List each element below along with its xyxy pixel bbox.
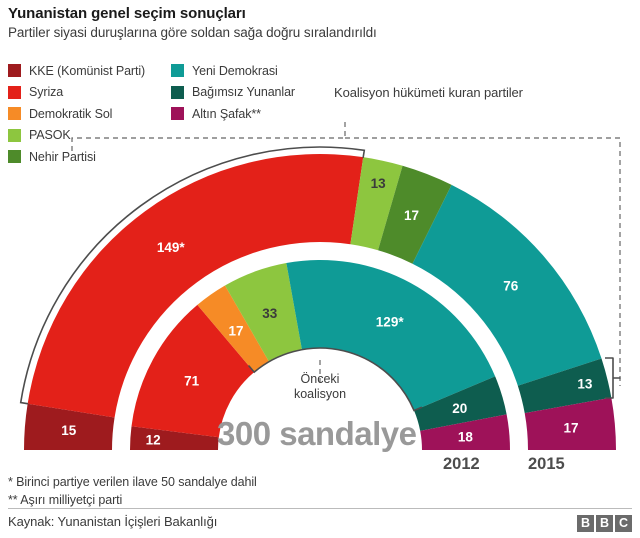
arc-segment-label: 129* [376,315,405,330]
arc-segment-label: 149* [157,240,186,255]
coalition-annotation-label: Koalisyon hükümeti kuran partiler [334,85,523,100]
legend-label-kke: KKE (Komünist Parti) [29,64,145,78]
arc-segment-label: 20 [452,401,467,416]
bbc-logo: B B C [577,515,632,532]
coalition-leader-left [72,122,345,154]
year-label-2012: 2012 [443,455,480,474]
arc-segment-label: 17 [228,324,243,339]
semicircle-chart: 15149*1317761317 12711733129*2018 [0,96,640,460]
arc-segment-label: 33 [262,306,278,321]
source-text: Kaynak: Yunanistan İçişleri Bakanlığı [8,514,217,529]
arc-segment-label: 18 [458,429,474,444]
arc-segment-label: 15 [61,423,77,438]
previous-coalition-line2: koalisyon [265,387,375,402]
arc-segment-label: 17 [563,421,578,436]
previous-coalition-line1: Önceki [265,372,375,387]
legend-swatch-kke [8,64,21,77]
legend-item-yeni-demokrasi: Yeni Demokrasi [171,60,295,82]
previous-coalition-label: Önceki koalisyon [265,372,375,402]
arc-segment-label: 12 [146,433,161,448]
arc-segment-label: 71 [184,373,200,388]
bbc-logo-c: C [615,515,632,532]
infographic-root: Yunanistan genel seçim sonuçları Partile… [0,0,640,538]
header: Yunanistan genel seçim sonuçları Partile… [8,4,632,42]
arc-segment-label: 13 [577,377,593,392]
footnote-2: ** Aşırı milliyetçi parti [8,491,257,509]
bbc-logo-b2: B [596,515,613,532]
legend-swatch-yeni-demokrasi [171,64,184,77]
footnotes: * Birinci partiye verilen ilave 50 sanda… [8,473,257,509]
legend-label-yeni-demokrasi: Yeni Demokrasi [192,64,278,78]
page-subtitle: Partiler siyasi duruşlarına göre soldan … [8,24,632,42]
arc-segment-label: 17 [404,208,419,223]
bbc-logo-b1: B [577,515,594,532]
footnote-1: * Birinci partiye verilen ilave 50 sanda… [8,473,257,491]
page-title: Yunanistan genel seçim sonuçları [8,4,632,23]
year-label-2015: 2015 [528,455,565,474]
arc-segment-label: 76 [503,278,519,293]
arc-segment-label: 13 [371,176,387,191]
source-divider [8,508,632,509]
legend-item-kke: KKE (Komünist Parti) [8,60,145,82]
total-seats-label: 300 sandalye [217,415,416,453]
